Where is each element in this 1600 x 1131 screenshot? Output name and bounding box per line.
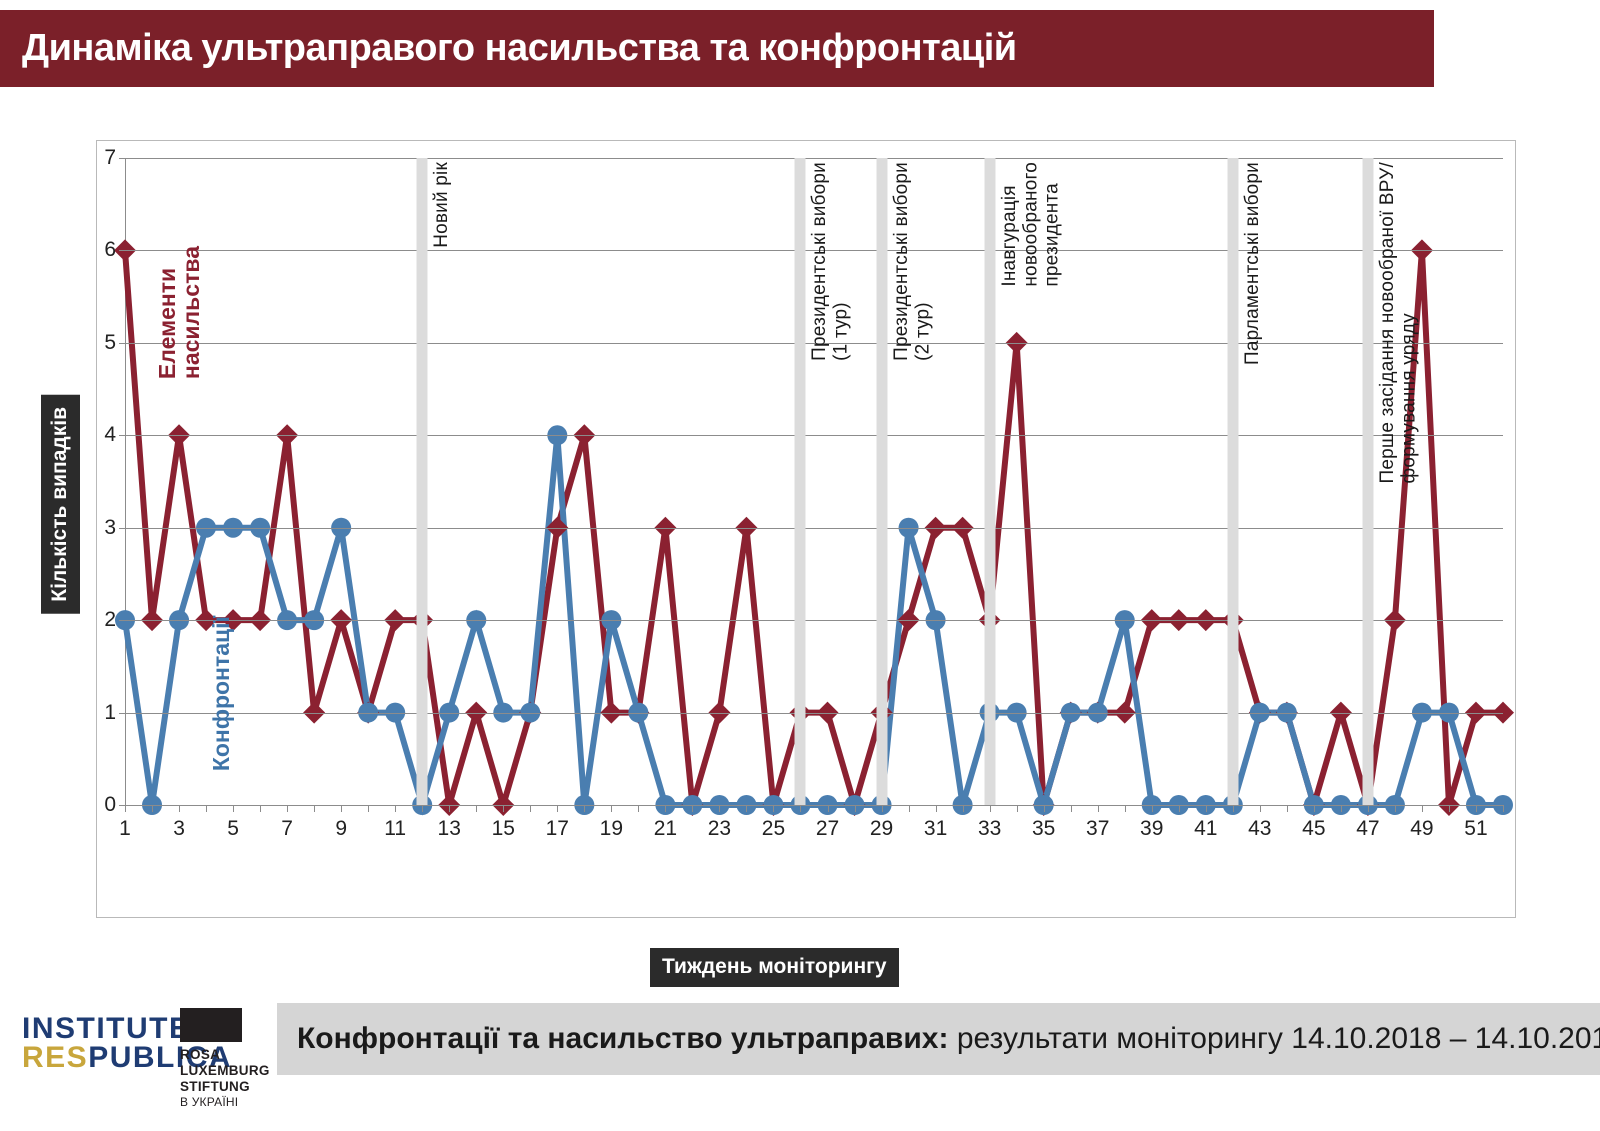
x-tick-mark bbox=[1071, 805, 1072, 812]
y-tick-label: 0 bbox=[104, 793, 125, 817]
y-tick-label: 6 bbox=[104, 238, 125, 262]
event-band bbox=[876, 158, 887, 805]
rls-line3: STIFTUNG bbox=[180, 1079, 270, 1095]
x-tick-mark bbox=[746, 805, 747, 812]
x-tick-mark bbox=[422, 805, 423, 812]
footer-caption-rest: результати моніторингу 14.10.2018 – 14.1… bbox=[948, 1022, 1600, 1055]
x-tick-label: 3 bbox=[173, 817, 185, 841]
rls-square-icon bbox=[180, 1008, 242, 1042]
x-tick-mark bbox=[341, 805, 342, 812]
x-tick-mark bbox=[990, 805, 991, 812]
x-tick-mark bbox=[882, 805, 883, 812]
x-tick-mark bbox=[206, 805, 207, 812]
x-tick-mark bbox=[233, 805, 234, 812]
rosa-luxemburg-logo: ROSA LUXEMBURG STIFTUNG В УКРАЇНІ bbox=[180, 1008, 270, 1109]
x-tick-label: 11 bbox=[384, 817, 406, 841]
x-axis-title: Тиждень моніторингу bbox=[650, 948, 899, 987]
chart-frame: 0123456713579111315171921232527293133353… bbox=[96, 140, 1516, 918]
logo-res: RES bbox=[22, 1041, 88, 1074]
x-tick-mark bbox=[1314, 805, 1315, 812]
footer-caption-band: Конфронтації та насильство ультраправих:… bbox=[277, 1003, 1600, 1075]
x-tick-label: 9 bbox=[335, 817, 347, 841]
x-tick-mark bbox=[260, 805, 261, 812]
x-tick-mark bbox=[1179, 805, 1180, 812]
x-tick-label: 1 bbox=[119, 817, 131, 841]
x-tick-label: 15 bbox=[492, 817, 515, 841]
x-tick-mark bbox=[1449, 805, 1450, 812]
x-tick-mark bbox=[1422, 805, 1423, 812]
y-tick-label: 5 bbox=[104, 331, 125, 355]
x-tick-mark bbox=[179, 805, 180, 812]
y-gridline bbox=[125, 805, 1503, 806]
series-annotation-confrontations: Конфронтації bbox=[209, 616, 233, 771]
x-tick-mark bbox=[1476, 805, 1477, 812]
rls-line4: В УКРАЇНІ bbox=[180, 1095, 270, 1109]
x-tick-mark bbox=[125, 805, 126, 812]
x-tick-mark bbox=[1395, 805, 1396, 812]
x-tick-mark bbox=[773, 805, 774, 812]
x-tick-label: 31 bbox=[924, 817, 947, 841]
y-gridline bbox=[125, 620, 1503, 621]
x-tick-mark bbox=[800, 805, 801, 812]
x-tick-label: 49 bbox=[1410, 817, 1433, 841]
x-tick-mark bbox=[1098, 805, 1099, 812]
event-label: Президентські вибори (2 тур) bbox=[891, 162, 934, 361]
x-tick-label: 37 bbox=[1086, 817, 1109, 841]
x-tick-mark bbox=[855, 805, 856, 812]
x-tick-mark bbox=[152, 805, 153, 812]
x-tick-mark bbox=[530, 805, 531, 812]
event-label: Парламентські вибори bbox=[1242, 162, 1263, 365]
x-tick-mark bbox=[1233, 805, 1234, 812]
x-tick-mark bbox=[665, 805, 666, 812]
y-gridline bbox=[125, 528, 1503, 529]
event-band bbox=[417, 158, 428, 805]
event-band bbox=[984, 158, 995, 805]
x-tick-mark bbox=[963, 805, 964, 812]
x-tick-mark bbox=[1368, 805, 1369, 812]
x-tick-label: 27 bbox=[816, 817, 839, 841]
x-tick-mark bbox=[1206, 805, 1207, 812]
x-tick-mark bbox=[719, 805, 720, 812]
x-tick-label: 25 bbox=[762, 817, 785, 841]
slide-footer: INSTITUTE RESPUBLICA ROSA LUXEMBURG STIF… bbox=[0, 995, 1600, 1085]
y-tick-label: 1 bbox=[104, 701, 125, 725]
x-tick-mark bbox=[1260, 805, 1261, 812]
x-tick-mark bbox=[395, 805, 396, 812]
event-label: Новий рік bbox=[431, 162, 452, 248]
footer-caption-bold: Конфронтації та насильство ультраправих: bbox=[297, 1022, 948, 1055]
x-tick-mark bbox=[449, 805, 450, 812]
x-tick-label: 43 bbox=[1248, 817, 1271, 841]
x-tick-mark bbox=[1017, 805, 1018, 812]
x-tick-label: 5 bbox=[227, 817, 239, 841]
x-tick-label: 21 bbox=[654, 817, 677, 841]
x-tick-label: 23 bbox=[708, 817, 731, 841]
x-tick-label: 45 bbox=[1302, 817, 1325, 841]
rls-line2: LUXEMBURG bbox=[180, 1063, 270, 1079]
event-band bbox=[1227, 158, 1238, 805]
y-tick-label: 7 bbox=[104, 146, 125, 170]
x-tick-mark bbox=[692, 805, 693, 812]
x-tick-label: 19 bbox=[600, 817, 623, 841]
plot-area: 0123456713579111315171921232527293133353… bbox=[125, 158, 1503, 805]
event-band bbox=[795, 158, 806, 805]
x-tick-mark bbox=[1287, 805, 1288, 812]
x-tick-mark bbox=[476, 805, 477, 812]
x-tick-label: 13 bbox=[438, 817, 461, 841]
x-tick-mark bbox=[611, 805, 612, 812]
x-tick-label: 29 bbox=[870, 817, 893, 841]
x-tick-label: 35 bbox=[1032, 817, 1055, 841]
page-title: Динаміка ультраправого насильства та кон… bbox=[0, 27, 1017, 70]
x-tick-mark bbox=[557, 805, 558, 812]
event-label: Перше засідання новообраної ВРУ/ формува… bbox=[1377, 162, 1420, 483]
event-label: Інавгурація новообраного президента bbox=[999, 162, 1063, 287]
x-tick-mark bbox=[936, 805, 937, 812]
x-tick-mark bbox=[1125, 805, 1126, 812]
x-tick-mark bbox=[287, 805, 288, 812]
y-tick-label: 4 bbox=[104, 423, 125, 447]
x-tick-label: 7 bbox=[281, 817, 293, 841]
x-tick-mark bbox=[503, 805, 504, 812]
slide-root: Динаміка ультраправого насильства та кон… bbox=[0, 0, 1600, 1131]
x-tick-label: 47 bbox=[1356, 817, 1379, 841]
x-tick-mark bbox=[1341, 805, 1342, 812]
x-tick-mark bbox=[638, 805, 639, 812]
event-band bbox=[1362, 158, 1373, 805]
y-axis-title: Кількість випадків bbox=[41, 395, 80, 614]
rls-line1: ROSA bbox=[180, 1047, 270, 1063]
x-tick-label: 17 bbox=[546, 817, 569, 841]
series-annotation-violence: Елементи насильства bbox=[155, 246, 203, 379]
x-tick-label: 51 bbox=[1464, 817, 1487, 841]
y-gridline bbox=[125, 435, 1503, 436]
x-tick-mark bbox=[828, 805, 829, 812]
y-gridline bbox=[125, 158, 1503, 159]
x-tick-mark bbox=[584, 805, 585, 812]
x-tick-label: 33 bbox=[978, 817, 1001, 841]
x-tick-mark bbox=[368, 805, 369, 812]
event-label: Президентські вибори (1 тур) bbox=[809, 162, 852, 361]
x-tick-mark bbox=[1503, 805, 1504, 812]
x-tick-mark bbox=[314, 805, 315, 812]
y-gridline bbox=[125, 713, 1503, 714]
footer-caption: Конфронтації та насильство ультраправих:… bbox=[277, 1022, 1600, 1056]
x-tick-mark bbox=[1044, 805, 1045, 812]
y-tick-label: 3 bbox=[104, 516, 125, 540]
y-tick-label: 2 bbox=[104, 608, 125, 632]
x-tick-mark bbox=[909, 805, 910, 812]
x-tick-mark bbox=[1152, 805, 1153, 812]
slide-title-bar: Динаміка ультраправого насильства та кон… bbox=[0, 10, 1434, 87]
x-tick-label: 41 bbox=[1194, 817, 1217, 841]
x-tick-label: 39 bbox=[1140, 817, 1163, 841]
